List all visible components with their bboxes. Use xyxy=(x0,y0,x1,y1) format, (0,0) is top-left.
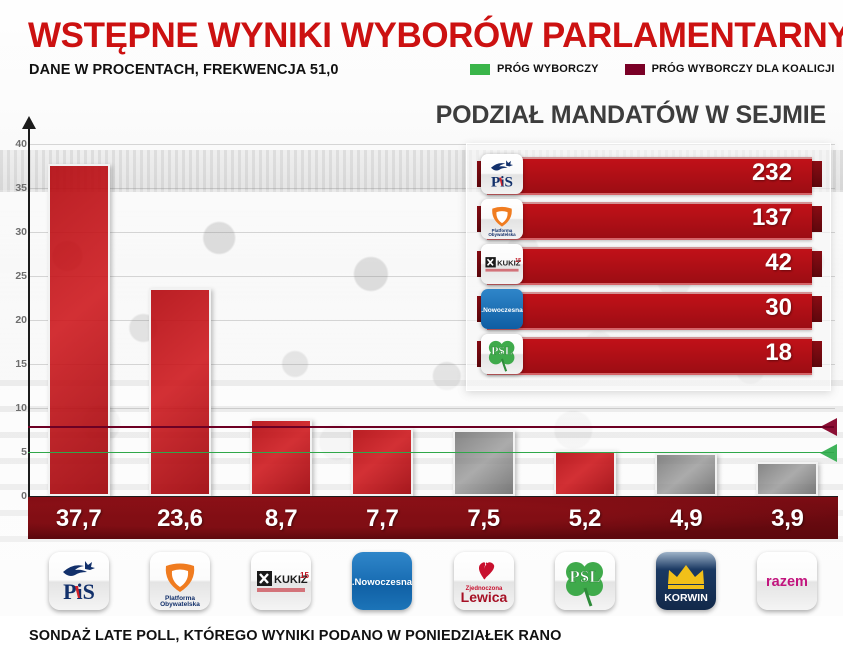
threshold-line-single xyxy=(28,452,834,454)
page-title: WSTĘPNE WYNIKI WYBORÓW PARLAMENTARNYCH xyxy=(28,16,843,56)
svg-text:razem: razem xyxy=(766,574,808,590)
legend-label-single: PRÓG WYBORCZY xyxy=(497,63,599,75)
bar-value-label: 5,2 xyxy=(534,505,635,533)
kukiz-logo-svg: KUKIZ15 xyxy=(251,552,311,610)
seat-count-label: 137 xyxy=(752,204,792,232)
value-label-band: 37,723,68,77,77,55,24,93,9 xyxy=(28,497,838,539)
subtitle: DANE W PROCENTACH, FREKWENCJA 51,0 xyxy=(29,62,339,78)
seat-row: 232PiS xyxy=(477,154,822,194)
party-logo-psl[interactable]: PSL xyxy=(555,552,615,610)
chart-bar xyxy=(149,288,211,496)
chart-bar xyxy=(250,419,312,496)
party-logo-korwin[interactable]: KORWIN xyxy=(656,552,716,610)
psl-logo-svg: PSL xyxy=(555,552,615,610)
legend-swatch-green xyxy=(470,64,490,75)
seat-party-logo-nowo: .Nowoczesna xyxy=(481,289,523,329)
bar-value-label: 37,7 xyxy=(28,505,129,533)
bar-value-label: 3,9 xyxy=(737,505,838,533)
party-logo-kukiz[interactable]: KUKIZ15 xyxy=(251,552,311,610)
bar-value-label: 23,6 xyxy=(129,505,230,533)
party-logo-nowo[interactable]: .Nowoczesna xyxy=(352,552,412,610)
po-logo-svg: PlatformaObywatelska xyxy=(150,552,210,610)
svg-text:.Nowoczesna: .Nowoczesna xyxy=(352,577,412,588)
svg-text:Obywatelska: Obywatelska xyxy=(488,232,516,237)
svg-text:.Nowoczesna: .Nowoczesna xyxy=(481,307,523,314)
seat-party-logo-kukiz: KUKIZ15 xyxy=(481,244,523,284)
svg-text:15: 15 xyxy=(300,571,309,580)
seat-count-label: 18 xyxy=(765,339,792,367)
bar-value-label: 4,9 xyxy=(636,505,737,533)
svg-text:15: 15 xyxy=(515,258,521,264)
po-logo-svg: PlatformaObywatelska xyxy=(481,199,523,239)
seat-party-logo-po: PlatformaObywatelska xyxy=(481,199,523,239)
svg-text:Lewica: Lewica xyxy=(460,589,507,605)
bar-value-label: 8,7 xyxy=(231,505,332,533)
bar-value-label: 7,7 xyxy=(332,505,433,533)
bar-value-label: 7,5 xyxy=(433,505,534,533)
chart-bar xyxy=(655,453,717,496)
seats-panel-heading: PODZIAŁ MANDATÓW W SEJMIE xyxy=(436,101,826,130)
seat-bar xyxy=(487,337,812,375)
svg-text:Obywatelska: Obywatelska xyxy=(160,601,200,608)
svg-text:PSL: PSL xyxy=(491,345,513,358)
seat-party-logo-pis: PiS xyxy=(481,154,523,194)
pis-logo-svg: PiS xyxy=(481,154,523,194)
psl-logo-svg: PSL xyxy=(481,334,523,374)
seat-count-label: 42 xyxy=(765,249,792,277)
footer: SONDAŻ LATE POLL, KTÓREGO WYNIKI PODANO … xyxy=(0,616,843,666)
chart-bar xyxy=(351,428,413,496)
pis-logo-svg: PiS xyxy=(49,552,109,610)
kukiz-logo-svg: KUKIZ15 xyxy=(481,244,523,284)
legend-item-coalition: PRÓG WYBORCZY DLA KOALICJI xyxy=(625,63,835,75)
svg-text:PiS: PiS xyxy=(63,579,95,604)
svg-text:PSL: PSL xyxy=(569,567,600,586)
seat-count-label: 232 xyxy=(752,159,792,187)
seat-row: 18PSL xyxy=(477,334,822,374)
seat-bar xyxy=(487,292,812,330)
chart-bar xyxy=(756,462,818,496)
nowo-logo-svg: .Nowoczesna xyxy=(352,552,412,610)
korwin-logo-svg: KORWIN xyxy=(656,552,716,610)
seats-panel: 232PiS137PlatformaObywatelska42KUKIZ1530… xyxy=(466,143,831,391)
party-logo-po[interactable]: PlatformaObywatelska xyxy=(150,552,210,610)
lewica-logo-svg: ZjednoczonaLewica xyxy=(454,552,514,610)
chart-bar xyxy=(48,164,110,496)
seat-party-logo-psl: PSL xyxy=(481,334,523,374)
party-logo-razem[interactable]: razem xyxy=(757,552,817,610)
nowo-logo-svg: .Nowoczesna xyxy=(481,289,523,329)
legend-label-coalition: PRÓG WYBORCZY DLA KOALICJI xyxy=(652,63,835,75)
seats-rows: 232PiS137PlatformaObywatelska42KUKIZ1530… xyxy=(477,152,822,382)
threshold-line-coalition xyxy=(28,426,834,428)
legend-item-single: PRÓG WYBORCZY xyxy=(470,63,599,75)
razem-logo-svg: razem xyxy=(757,552,817,610)
seat-row: 42KUKIZ15 xyxy=(477,244,822,284)
party-logo-row: PiSPlatformaObywatelskaKUKIZ15.Nowoczesn… xyxy=(0,552,843,614)
svg-text:KORWIN: KORWIN xyxy=(664,592,708,604)
seat-count-label: 30 xyxy=(765,294,792,322)
seat-bar xyxy=(487,247,812,285)
chart-bar xyxy=(554,450,616,496)
threshold-legend: PRÓG WYBORCZY PRÓG WYBORCZY DLA KOALICJI xyxy=(470,63,835,75)
seat-row: 30.Nowoczesna xyxy=(477,289,822,329)
chart-bar xyxy=(453,430,515,496)
seat-row: 137PlatformaObywatelska xyxy=(477,199,822,239)
footer-note: SONDAŻ LATE POLL, KTÓREGO WYNIKI PODANO … xyxy=(29,628,561,644)
election-infographic: WSTĘPNE WYNIKI WYBORÓW PARLAMENTARNYCH D… xyxy=(0,0,843,666)
party-logo-pis[interactable]: PiS xyxy=(49,552,109,610)
party-logo-lewica[interactable]: ZjednoczonaLewica xyxy=(454,552,514,610)
legend-swatch-maroon xyxy=(625,64,645,75)
